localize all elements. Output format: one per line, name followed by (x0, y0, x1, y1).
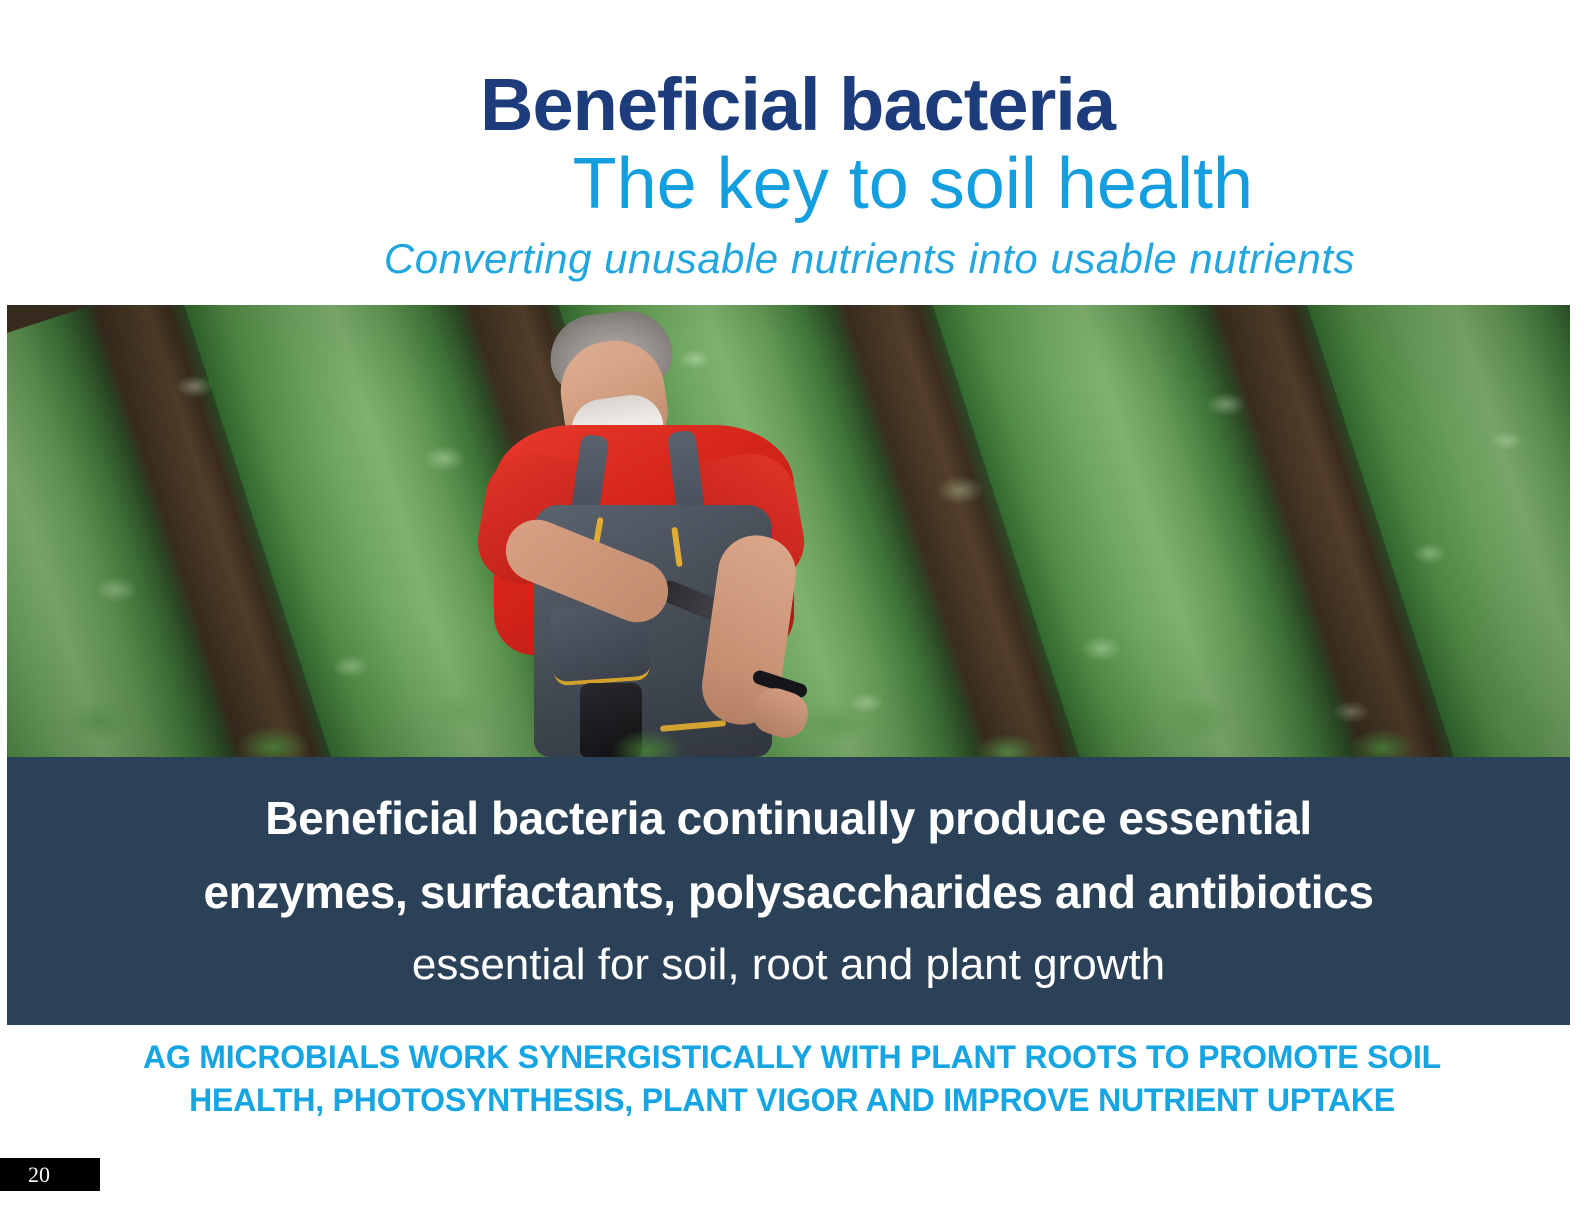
page-title-secondary: The key to soil health (0, 148, 1253, 220)
statement-line-3: essential for soil, root and plant growt… (7, 943, 1570, 987)
footer-caption: AG MICROBIALS WORK SYNERGISTICALLY WITH … (0, 1036, 1584, 1121)
statement-band: Beneficial bacteria continually produce … (7, 757, 1570, 1025)
caption-line-1: AG MICROBIALS WORK SYNERGISTICALLY WITH … (0, 1036, 1584, 1079)
statement-line-1: Beneficial bacteria continually produce … (7, 795, 1570, 841)
caption-line-2: HEALTH, PHOTOSYNTHESIS, PLANT VIGOR AND … (0, 1079, 1584, 1122)
page-number-badge: 20 (0, 1158, 100, 1191)
photo-vignette (7, 305, 1570, 757)
field-photo (7, 305, 1570, 757)
statement-line-2: enzymes, surfactants, polysaccharides an… (7, 869, 1570, 915)
page-subtitle: Converting unusable nutrients into usabl… (0, 238, 1355, 280)
page-title-primary: Beneficial bacteria (0, 68, 1115, 142)
photo-scene (7, 305, 1570, 757)
title-block: Beneficial bacteria The key to soil heal… (0, 0, 1584, 305)
